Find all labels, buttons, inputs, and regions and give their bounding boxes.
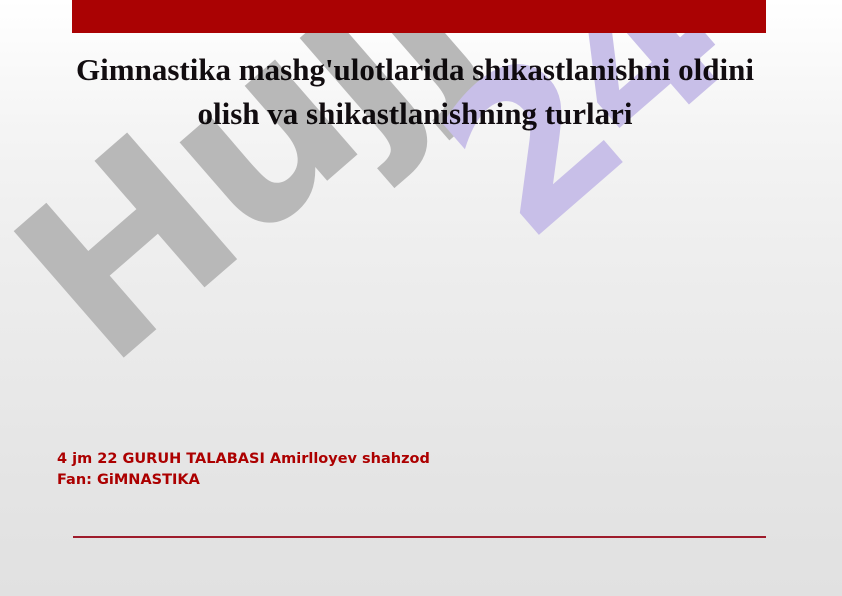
presentation-slide: Hujjat 24 Gimnastika mashg'ulotlarida sh… xyxy=(0,0,842,596)
bottom-divider-rule xyxy=(73,536,766,538)
top-accent-bar xyxy=(72,0,766,33)
slide-title: Gimnastika mashg'ulotlarida shikastlanis… xyxy=(62,48,768,136)
subtitle-line-subject: Fan: GiMNASTIKA xyxy=(57,470,757,491)
slide-content: Gimnastika mashg'ulotlarida shikastlanis… xyxy=(0,0,842,596)
subtitle-line-student: 4 jm 22 GURUH TALABASI Amirlloyev shahzo… xyxy=(57,449,757,470)
slide-subtitle-block: 4 jm 22 GURUH TALABASI Amirlloyev shahzo… xyxy=(57,449,757,491)
